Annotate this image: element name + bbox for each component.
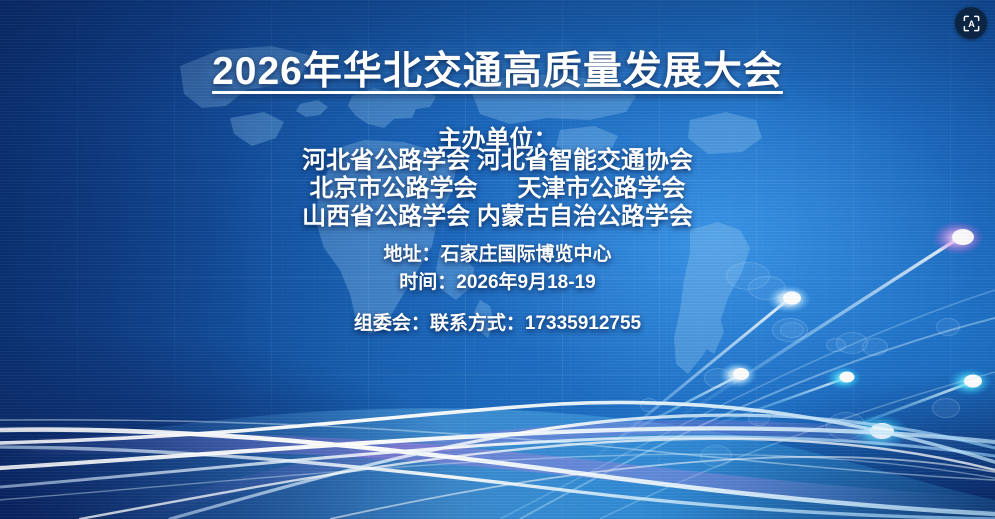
scan-text-button[interactable]: A [955,7,987,39]
conference-poster: 2026年华北交通高质量发展大会 主办单位： 河北省公路学会 河北省智能交通协会… [0,0,995,519]
organizer-line: 山西省公路学会 内蒙古自治公路学会 [0,203,995,231]
poster-content: 2026年华北交通高质量发展大会 主办单位： 河北省公路学会 河北省智能交通协会… [0,0,995,519]
scan-icon-letter: A [968,19,975,29]
page-title: 2026年华北交通高质量发展大会 [0,50,995,95]
scan-text-icon: A [962,14,981,33]
organizer-list: 河北省公路学会 河北省智能交通协会 北京市公路学会 天津市公路学会 山西省公路学… [0,147,995,231]
address-line: 地址：石家庄国际博览中心 [0,241,995,269]
organizer-line: 河北省公路学会 河北省智能交通协会 [0,147,995,175]
event-details: 地址：石家庄国际博览中心 时间：2026年9月18-19 组委会：联系方式：17… [0,241,995,338]
time-line: 时间：2026年9月18-19 [0,269,995,297]
contact-line: 组委会：联系方式：17335912755 [0,310,995,338]
organizer-line: 北京市公路学会 天津市公路学会 [0,175,995,203]
